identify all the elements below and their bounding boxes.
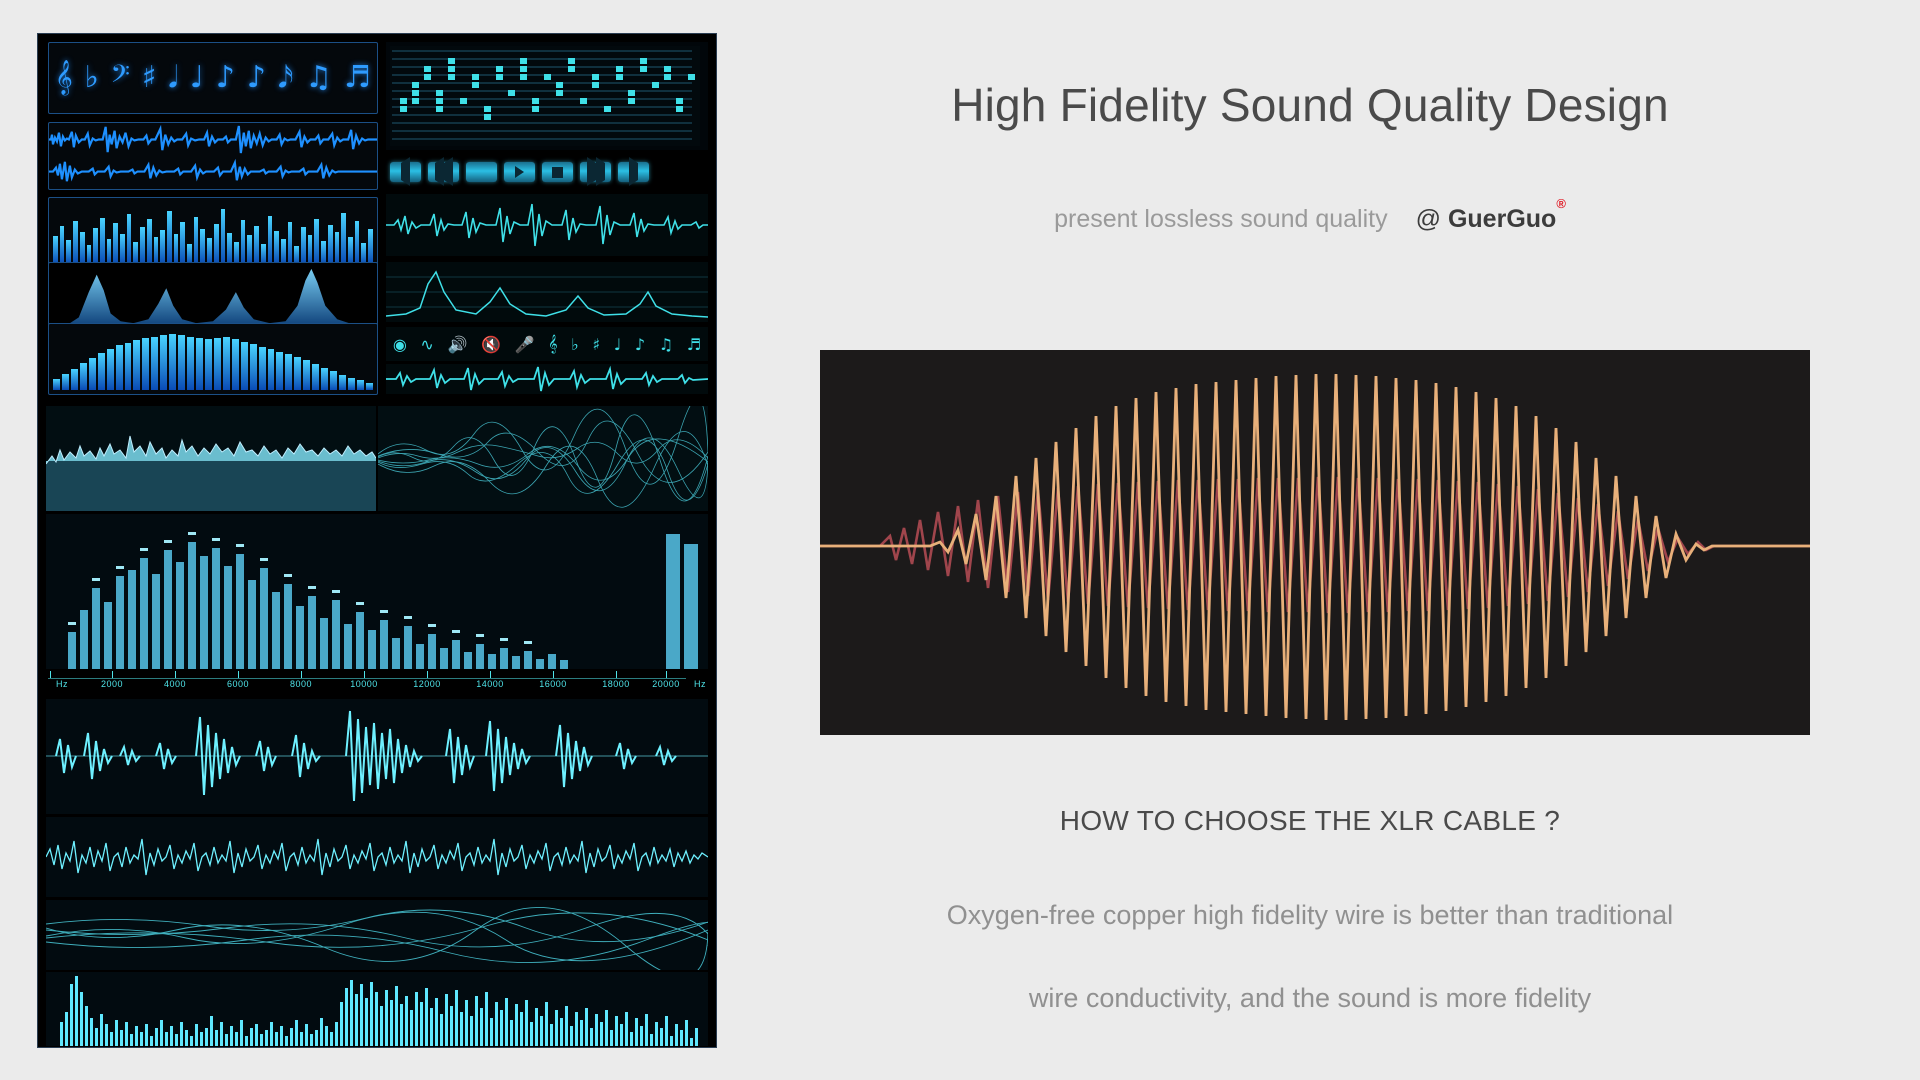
brand-name: GuerGuo [1448,205,1556,233]
ruler-tick-4000: 4000 [164,679,186,689]
subtitle-row: present lossless sound quality@ GuerGuo® [780,205,1840,234]
ruler-tick-16000: 16000 [539,679,567,689]
speaker-icon: 🔊 [447,335,467,354]
sound-wave-icon: ∿ [420,335,433,354]
stop-icon [552,167,563,178]
tall-spectrum-panel [46,972,708,1046]
flat-icon: ♭ [85,63,99,93]
disc-icon: ◉ [393,335,407,354]
quarter-note-icon: ♩ [190,63,204,93]
equalizer-bars-panel [48,197,378,269]
transport-controls[interactable] [390,162,649,182]
sharp-icon-2: ♯ [592,335,600,354]
ruler-tick-14000: 14000 [476,679,504,689]
rewind-button[interactable] [428,162,459,182]
half-note-icon: 𝅘𝅥 [168,63,178,93]
ruler-tick-6000: 6000 [227,679,249,689]
collage-canvas: 𝄞 ♭ 𝄢 ♯ 𝅘𝅥 ♩ ♪ ♪ 𝅘𝅥𝅯 ♫ ♬ [38,34,716,1047]
brand-mark: @ GuerGuo® [1416,205,1566,233]
teal-waveform-strip-2 [386,364,708,394]
beamed-triplet-icon-2: ♬ [687,335,701,354]
at-symbol: @ [1416,205,1441,233]
play-button[interactable] [504,162,535,182]
microphone-icon: 🎤 [515,335,535,354]
large-bar-spectrum [46,514,708,669]
waveform-svg [820,350,1810,735]
line-spectrum-panel [386,262,708,322]
ruler-tick-2000: 2000 [101,679,123,689]
eighth-note-icon-2: ♪ [635,335,645,354]
ruler-tick-10000: 10000 [350,679,378,689]
led-matrix-panel [386,42,708,150]
beamed-eighth-pair-icon: ♫ [305,63,332,93]
body-line-1: Oxygen-free copper high fidelity wire is… [780,900,1840,931]
ruler-tick-8000: 8000 [290,679,312,689]
product-copy-pane: High Fidelity Sound Quality Design prese… [780,0,1920,1080]
ruler-tick-12000: 12000 [413,679,441,689]
next-track-button[interactable] [618,162,649,182]
audio-visualizer-collage: 𝄞 ♭ 𝄢 ♯ 𝅘𝅥 ♩ ♪ ♪ 𝅘𝅥𝅯 ♫ ♬ [37,33,717,1048]
fast-forward-icon [587,163,605,181]
play-icon [515,166,524,178]
ruler-tick-20000: 20000 [652,679,680,689]
filled-spectrum-panel [46,406,376,511]
bass-clef-icon: 𝄢 [111,63,130,93]
sharp-icon: ♯ [142,63,157,93]
ruler-unit-left: Hz [56,679,68,689]
flat-icon-2: ♭ [571,335,579,354]
stop-button[interactable] [542,162,573,182]
waveform-display [820,350,1810,735]
product-page: 𝄞 ♭ 𝄢 ♯ 𝅘𝅥 ♩ ♪ ♪ 𝅘𝅥𝅯 ♫ ♬ [0,0,1920,1080]
ruler-tick-18000: 18000 [602,679,630,689]
fast-forward-button[interactable] [580,162,611,182]
gradient-bars-panel [48,323,378,395]
treble-clef-icon: 𝄞 [55,63,73,93]
bright-waveform-panel [46,699,708,814]
gradient-bars [53,328,373,390]
body-line-2: wire conductivity, and the sound is more… [780,983,1840,1014]
icon-toolbar-strip: ◉ ∿ 🔊 🔇 🎤 𝄞 ♭ ♯ ♩ ♪ ♫ ♬ [386,327,708,361]
teal-waveform-strip [386,194,708,256]
eighth-note-flagged-icon: ♪ [247,63,266,93]
beamed-eighth-triplet-icon: ♬ [344,63,371,93]
ruler-unit-right: Hz [694,679,706,689]
thin-lines-panel [46,900,708,970]
noise-cloud-panel [378,406,708,511]
spectrum-peaks-panel [48,262,378,330]
mute-icon: 🔇 [481,335,501,354]
quarter-note-icon-2: ♩ [614,335,622,354]
previous-track-button[interactable] [390,162,421,182]
pause-button[interactable] [466,162,497,182]
previous-track-icon [401,163,410,181]
frequency-ruler: Hz 2000 4000 6000 8000 10000 12000 14000… [48,671,686,695]
sixteenth-note-icon: 𝅘𝅥𝅯 [278,63,293,93]
next-track-icon [629,163,638,181]
eighth-note-icon: ♪ [216,63,235,93]
subtitle-text: present lossless sound quality [1054,205,1388,233]
section-question: HOW TO CHOOSE THE XLR CABLE ? [780,805,1840,837]
dual-waveform-strip [48,122,378,190]
beamed-note-icon-2: ♫ [659,335,673,354]
rewind-icon [435,163,453,181]
page-title: High Fidelity Sound Quality Design [780,78,1840,132]
noisy-waveform-panel [46,817,708,897]
registered-trademark-icon: ® [1556,196,1566,211]
music-notation-strip: 𝄞 ♭ 𝄢 ♯ 𝅘𝅥 ♩ ♪ ♪ 𝅘𝅥𝅯 ♫ ♬ [48,42,378,114]
treble-clef-icon-2: 𝄞 [548,334,557,354]
equalizer-bars [53,202,373,264]
